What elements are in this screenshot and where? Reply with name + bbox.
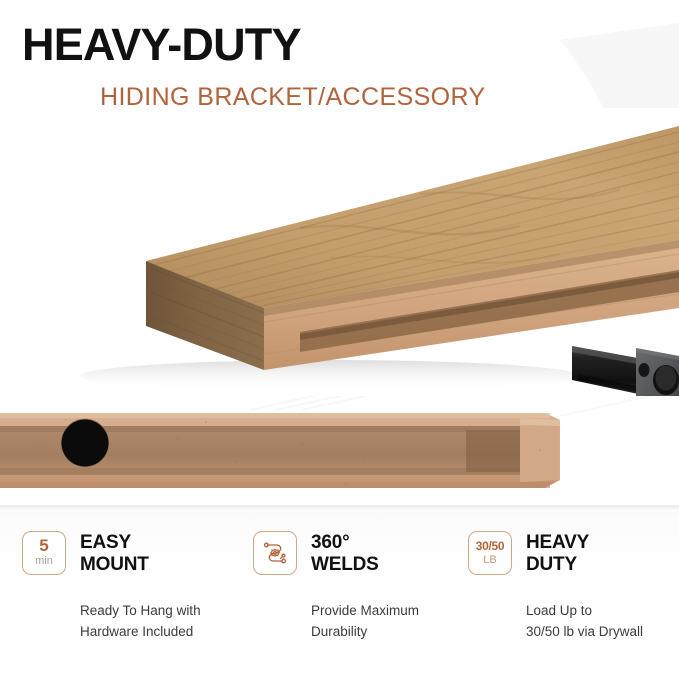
feature-desc-line1: Ready To Hang with (80, 600, 237, 621)
feature-heavy-duty: 30/50 LB HEAVY DUTY Load Up to 30/50 lb … (468, 531, 679, 642)
hero-product-photo (0, 108, 679, 398)
feature-title-line1: HEAVY (526, 532, 589, 554)
feature-title: 360° WELDS (311, 531, 379, 576)
page-subtitle: HIDING BRACKET/ACCESSORY (100, 82, 486, 112)
badge-secondary-text: min (35, 555, 53, 568)
shelf-channel-photo (0, 396, 679, 508)
five-minute-badge-icon: 5 min (22, 531, 66, 575)
feature-title-line2: MOUNT (80, 554, 149, 576)
feature-desc-line2: Durability (311, 621, 468, 642)
feature-desc-line2: Hardware Included (80, 621, 237, 642)
feature-title-line2: WELDS (311, 554, 379, 576)
page-title: HEAVY-DUTY (22, 20, 301, 70)
badge-primary-text: 30/50 (476, 540, 505, 553)
feature-header: 30/50 LB HEAVY DUTY (468, 531, 679, 576)
feature-header: 360° WELDS (253, 531, 468, 576)
feature-description: Ready To Hang with Hardware Included (80, 600, 237, 642)
feature-description: Provide Maximum Durability (311, 600, 468, 642)
badge-primary-text: 5 (39, 538, 48, 554)
weight-capacity-badge-icon: 30/50 LB (468, 531, 512, 575)
feature-description: Load Up to 30/50 lb via Drywall (526, 600, 679, 642)
feature-title: HEAVY DUTY (526, 531, 589, 576)
feature-desc-line2: 30/50 lb via Drywall (526, 621, 679, 642)
feature-row: 5 min EASY MOUNT Ready To Hang with Hard… (0, 511, 679, 679)
feature-header: 5 min EASY MOUNT (22, 531, 237, 576)
feature-title: EASY MOUNT (80, 531, 149, 576)
feature-desc-line1: Provide Maximum (311, 600, 468, 621)
feature-title-line1: 360° (311, 532, 379, 554)
product-marketing-image: HEAVY-DUTY HIDING BRACKET/ACCESSORY (0, 0, 679, 679)
header: HEAVY-DUTY HIDING BRACKET/ACCESSORY (0, 0, 679, 128)
feature-360-welds: 360° WELDS Provide Maximum Durability (253, 531, 468, 642)
badge-secondary-text: LB (483, 554, 496, 567)
weld-path-icon (253, 531, 297, 575)
weld-path-glyph (260, 538, 290, 568)
feature-easy-mount: 5 min EASY MOUNT Ready To Hang with Hard… (22, 531, 237, 642)
feature-title-line1: EASY (80, 532, 149, 554)
feature-title-line2: DUTY (526, 554, 589, 576)
feature-desc-line1: Load Up to (526, 600, 679, 621)
